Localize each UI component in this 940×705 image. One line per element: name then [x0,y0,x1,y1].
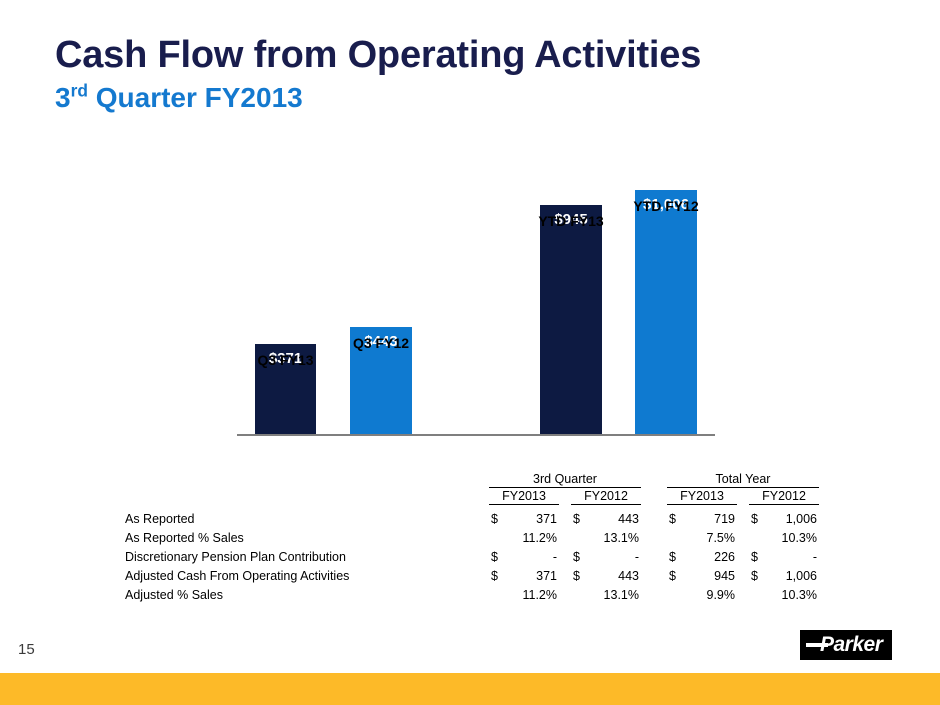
cell-value: 9.9% [683,583,743,602]
table-row: As Reported$371$443$719$1,006 [125,507,825,526]
cell-currency: $ [661,507,683,526]
cell-value: 11.2% [505,583,565,602]
cell-currency [743,583,765,602]
row-label: As Reported [125,507,483,526]
cell-currency [565,583,587,602]
cell-gap [647,564,661,583]
title-block: Cash Flow from Operating Activities 3rd … [55,36,895,114]
cell-value: 10.3% [765,583,825,602]
cell-value: 371 [505,564,565,583]
row-label: Discretionary Pension Plan Contribution [125,545,483,564]
cell-currency: $ [661,545,683,564]
cell-currency: $ [743,545,765,564]
cell-currency [661,526,683,545]
bar-ytd-fy13: $945YTD FY13 [540,205,602,434]
cell-value: 371 [505,507,565,526]
cell-value: 226 [683,545,743,564]
cell-value: 11.2% [505,526,565,545]
row-label: Adjusted % Sales [125,583,483,602]
column-header-ty-fy2012: FY2012 [743,489,825,507]
column-header-q-fy2012: FY2012 [565,489,647,507]
group-header-spacer [125,472,483,489]
cell-currency: $ [743,564,765,583]
page-number: 15 [18,641,35,658]
cell-value: 443 [587,564,647,583]
cell-currency [743,526,765,545]
bar-q3-fy12: $443Q3 FY12 [350,327,412,434]
cell-currency: $ [743,507,765,526]
row-label: Adjusted Cash From Operating Activities [125,564,483,583]
category-label: YTD FY13 [518,213,624,229]
column-header-row: FY2013 FY2012 FY2013 FY2012 [125,489,825,507]
group-header-quarter: 3rd Quarter [483,472,647,489]
cell-value: 10.3% [765,526,825,545]
subtitle-rest: Quarter FY2013 [88,82,303,113]
row-label: As Reported % Sales [125,526,483,545]
logo-wordmark: Parker [820,633,882,657]
cell-currency [565,526,587,545]
column-header-ty-fy2013: FY2013 [661,489,743,507]
table-body: As Reported$371$443$719$1,006As Reported… [125,507,825,602]
table-row: Adjusted % Sales11.2%13.1%9.9%10.3% [125,583,825,602]
bar-rect: $1,006 [635,190,697,434]
cell-currency: $ [565,507,587,526]
cell-value: 7.5% [683,526,743,545]
table-row: Adjusted Cash From Operating Activities$… [125,564,825,583]
cell-currency [661,583,683,602]
bar-q3-fy13: $371Q3 FY13 [255,344,316,434]
cell-value: 1,006 [765,564,825,583]
cell-gap [647,507,661,526]
subtitle-number: 3 [55,82,71,113]
cell-currency: $ [483,507,505,526]
bar-chart: $371Q3 FY13$443Q3 FY12$945YTD FY13$1,006… [0,150,940,470]
cell-value: 1,006 [765,507,825,526]
parker-logo: Parker [800,630,892,660]
cell-gap [647,545,661,564]
page-title: Cash Flow from Operating Activities [55,36,895,76]
cell-gap [647,583,661,602]
cell-currency [483,526,505,545]
cell-value: 13.1% [587,583,647,602]
cell-currency: $ [483,564,505,583]
category-label: Q3 FY12 [328,335,434,351]
cell-currency: $ [565,564,587,583]
cell-value: - [505,545,565,564]
bar-rect: $945 [540,205,602,434]
column-header-spacer [125,489,483,507]
financial-data-table: 3rd Quarter Total Year FY2013 FY2012 FY2… [125,472,825,602]
chart-axis-line [237,434,715,436]
cell-value: 945 [683,564,743,583]
page-subtitle: 3rd Quarter FY2013 [55,82,895,114]
category-label: YTD FY12 [613,198,719,214]
cell-value: - [765,545,825,564]
table-row: Discretionary Pension Plan Contribution$… [125,545,825,564]
column-header-gap [647,489,661,507]
category-label: Q3 FY13 [233,352,338,368]
cell-currency: $ [483,545,505,564]
table-row: As Reported % Sales11.2%13.1%7.5%10.3% [125,526,825,545]
cell-value: 13.1% [587,526,647,545]
cell-currency: $ [565,545,587,564]
cell-currency [483,583,505,602]
subtitle-ordinal-suffix: rd [71,81,88,101]
cell-value: - [587,545,647,564]
group-header-gap [647,472,661,489]
group-header-row: 3rd Quarter Total Year [125,472,825,489]
table-head: 3rd Quarter Total Year FY2013 FY2012 FY2… [125,472,825,507]
cell-value: 443 [587,507,647,526]
cell-currency: $ [661,564,683,583]
cell-gap [647,526,661,545]
group-header-total-year: Total Year [661,472,825,489]
column-header-q-fy2013: FY2013 [483,489,565,507]
cell-value: 719 [683,507,743,526]
bar-ytd-fy12: $1,006YTD FY12 [635,190,697,434]
bottom-accent-bar [0,673,940,705]
